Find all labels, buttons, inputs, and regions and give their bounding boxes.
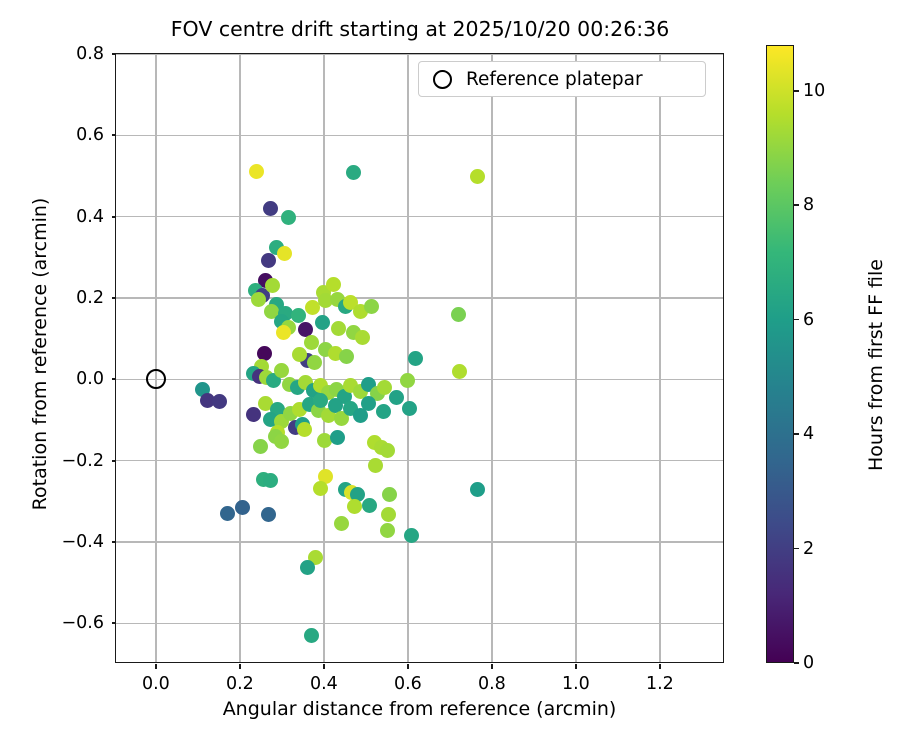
scatter-point xyxy=(292,347,307,362)
scatter-point xyxy=(263,473,278,488)
colorbar-tick-label: 4 xyxy=(803,424,814,444)
scatter-point xyxy=(331,321,346,336)
scatter-point xyxy=(277,246,292,261)
scatter-point xyxy=(346,165,361,180)
colorbar-tick xyxy=(794,433,799,435)
gridline-vertical xyxy=(491,54,493,662)
legend-open-circle-icon xyxy=(433,70,452,89)
x-tick xyxy=(575,664,577,669)
colorbar-tick-label: 8 xyxy=(803,195,814,215)
scatter-point xyxy=(304,628,319,643)
colorbar-tick xyxy=(794,90,799,92)
scatter-point xyxy=(361,396,376,411)
scatter-point xyxy=(404,528,419,543)
gridline-horizontal xyxy=(116,216,723,218)
scatter-point xyxy=(380,443,395,458)
scatter-point xyxy=(470,169,485,184)
colorbar-label: Hours from first FF file xyxy=(865,195,887,535)
scatter-point xyxy=(362,498,377,513)
gridline-vertical xyxy=(239,54,241,662)
gridline-horizontal xyxy=(116,297,723,299)
scatter-point xyxy=(347,499,362,514)
x-tick xyxy=(239,664,241,669)
scatter-point xyxy=(220,506,235,521)
scatter-point xyxy=(389,390,404,405)
scatter-point xyxy=(402,401,417,416)
gridline-vertical xyxy=(155,54,157,662)
scatter-point xyxy=(251,292,266,307)
scatter-point xyxy=(274,363,289,378)
colorbar-tick xyxy=(794,204,799,206)
scatter-point xyxy=(276,325,291,340)
colorbar-tick xyxy=(794,662,799,664)
x-tick xyxy=(323,664,325,669)
scatter-point xyxy=(381,507,396,522)
colorbar-tick-label: 10 xyxy=(803,81,825,101)
x-tick-label: 0.4 xyxy=(310,674,338,694)
plot-axes: 0.00.20.40.60.81.01.2−0.6−0.4−0.20.00.20… xyxy=(115,53,724,663)
x-tick-label: 1.0 xyxy=(562,674,590,694)
scatter-point xyxy=(334,516,349,531)
colorbar-gradient xyxy=(767,46,793,662)
x-axis-label: Angular distance from reference (arcmin) xyxy=(115,698,724,720)
colorbar-tick xyxy=(794,319,799,321)
scatter-point xyxy=(235,500,250,515)
y-tick-label: −0.6 xyxy=(16,613,104,633)
scatter-point xyxy=(400,373,415,388)
y-axis-label: Rotation from reference (arcmin) xyxy=(29,184,51,524)
colorbar-tick xyxy=(794,548,799,550)
x-tick xyxy=(407,664,409,669)
colorbar-tick-label: 6 xyxy=(803,310,814,330)
gridline-horizontal xyxy=(116,379,723,381)
scatter-point xyxy=(380,523,395,538)
y-tick xyxy=(112,297,117,299)
scatter-point xyxy=(313,393,328,408)
y-tick xyxy=(112,541,117,543)
gridline-vertical xyxy=(659,54,661,662)
y-tick xyxy=(112,378,117,380)
scatter-point xyxy=(304,335,319,350)
y-tick-label: −0.4 xyxy=(16,532,104,552)
scatter-point xyxy=(261,507,276,522)
gridline-vertical xyxy=(323,54,325,662)
scatter-point xyxy=(339,349,354,364)
y-tick xyxy=(112,134,117,136)
gridline-horizontal xyxy=(116,623,723,625)
gridline-horizontal xyxy=(116,460,723,462)
scatter-point xyxy=(452,364,467,379)
y-tick xyxy=(112,460,117,462)
scatter-point xyxy=(330,430,345,445)
x-tick xyxy=(491,664,493,669)
scatter-point xyxy=(261,253,276,268)
scatter-point xyxy=(246,407,261,422)
scatter-point xyxy=(368,458,383,473)
gridline-horizontal xyxy=(116,54,723,55)
legend: Reference platepar xyxy=(418,61,706,97)
scatter-point xyxy=(300,560,315,575)
colorbar-tick-label: 0 xyxy=(803,653,814,673)
y-tick xyxy=(112,53,117,55)
y-tick xyxy=(112,622,117,624)
gridline-vertical xyxy=(575,54,577,662)
colorbar xyxy=(766,45,794,663)
reference-platepar-marker xyxy=(146,369,166,389)
scatter-point xyxy=(249,164,264,179)
scatter-point xyxy=(382,487,397,502)
scatter-point xyxy=(451,307,466,322)
scatter-point xyxy=(307,355,322,370)
plot-area xyxy=(116,54,723,662)
scatter-point xyxy=(212,394,227,409)
scatter-point xyxy=(470,482,485,497)
scatter-point xyxy=(364,299,379,314)
colorbar-tick-label: 2 xyxy=(803,539,814,559)
y-tick xyxy=(112,216,117,218)
x-tick-label: 1.2 xyxy=(646,674,674,694)
scatter-point xyxy=(263,201,278,216)
gridline-horizontal xyxy=(116,541,723,543)
scatter-point xyxy=(274,434,289,449)
scatter-point xyxy=(326,277,341,292)
scatter-point xyxy=(313,481,328,496)
x-tick-label: 0.8 xyxy=(478,674,506,694)
legend-label-reference-platepar: Reference platepar xyxy=(466,69,643,90)
scatter-point xyxy=(265,278,280,293)
scatter-point xyxy=(355,330,370,345)
scatter-point xyxy=(253,439,268,454)
x-tick xyxy=(155,664,157,669)
x-tick-label: 0.2 xyxy=(226,674,254,694)
gridline-horizontal xyxy=(116,135,723,137)
scatter-point xyxy=(376,404,391,419)
x-tick xyxy=(659,664,661,669)
scatter-point xyxy=(297,422,312,437)
scatter-point xyxy=(315,315,330,330)
chart-title: FOV centre drift starting at 2025/10/20 … xyxy=(115,17,725,41)
x-tick-label: 0.6 xyxy=(394,674,422,694)
scatter-point xyxy=(408,351,423,366)
y-tick-label: 0.8 xyxy=(16,44,104,64)
y-tick-label: 0.6 xyxy=(16,125,104,145)
x-tick-label: 0.0 xyxy=(142,674,170,694)
figure-canvas: FOV centre drift starting at 2025/10/20 … xyxy=(0,0,900,750)
scatter-point xyxy=(291,308,306,323)
scatter-point xyxy=(281,210,296,225)
